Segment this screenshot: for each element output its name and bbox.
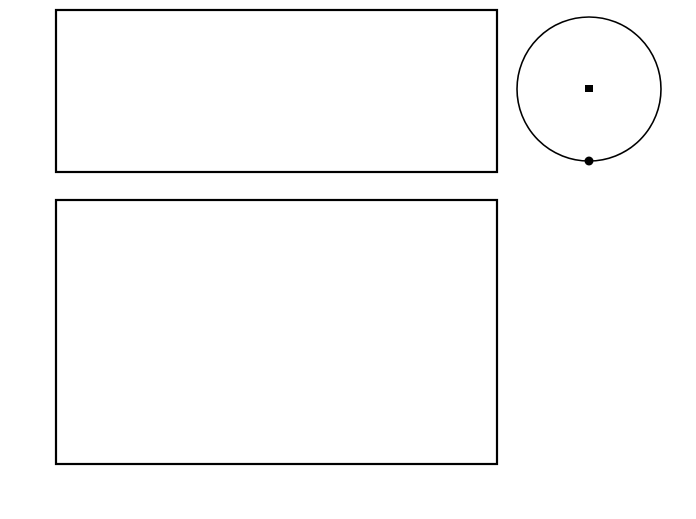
spectra-plot-frame bbox=[56, 200, 497, 464]
spectra-plot bbox=[0, 0, 497, 464]
figure-root bbox=[0, 0, 696, 519]
azimuth-station-dot bbox=[585, 157, 594, 166]
dispersion-plot-frame bbox=[56, 10, 497, 172]
dispersion-plot bbox=[56, 10, 497, 172]
azimuth-center-dot bbox=[585, 85, 593, 92]
azimuth-diagram bbox=[0, 0, 661, 166]
seismic-figure bbox=[0, 0, 696, 519]
